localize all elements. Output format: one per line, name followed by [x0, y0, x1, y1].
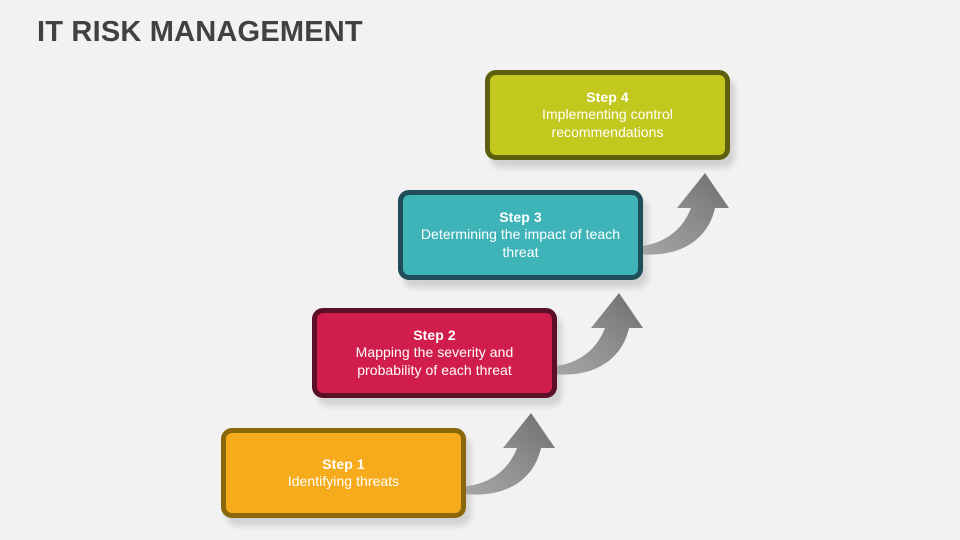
arrow-step-3-to-step-4 [629, 168, 739, 278]
step-1-description: Identifying threats [288, 473, 399, 490]
step-4-description: Implementing control recommendations [500, 106, 715, 140]
step-box-1[interactable]: Step 1 Identifying threats [221, 428, 466, 518]
step-1-label: Step 1 [322, 456, 365, 473]
step-4-label: Step 4 [586, 89, 629, 106]
step-box-2[interactable]: Step 2 Mapping the severity and probabil… [312, 308, 557, 398]
step-3-description: Determining the impact of teach threat [413, 226, 628, 260]
step-2-label: Step 2 [413, 327, 456, 344]
step-box-4[interactable]: Step 4 Implementing control recommendati… [485, 70, 730, 160]
slide-canvas: IT RISK MANAGEMENT [0, 0, 960, 540]
step-3-label: Step 3 [499, 209, 542, 226]
step-box-3[interactable]: Step 3 Determining the impact of teach t… [398, 190, 643, 280]
arrow-step-2-to-step-3 [543, 288, 653, 398]
arrow-step-1-to-step-2 [455, 408, 565, 518]
page-title: IT RISK MANAGEMENT [37, 16, 363, 49]
step-2-description: Mapping the severity and probability of … [327, 344, 542, 378]
